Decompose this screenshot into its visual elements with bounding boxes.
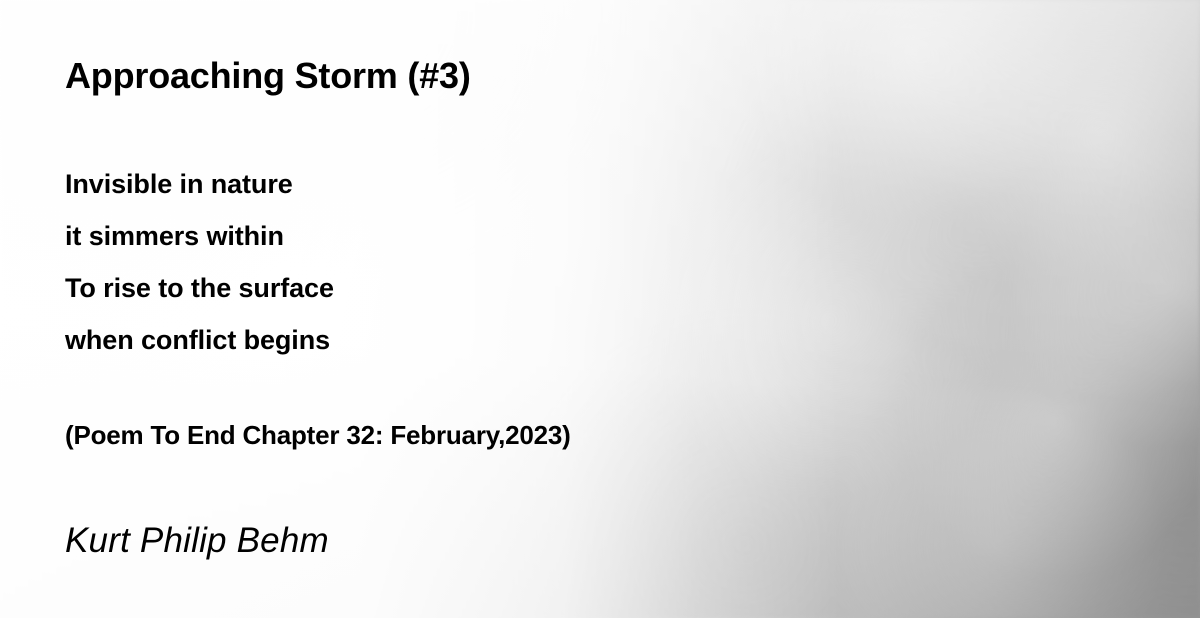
poem-line: it simmers within — [65, 210, 334, 262]
poem-line: To rise to the surface — [65, 262, 334, 314]
poem-content: Approaching Storm (#3) Invisible in natu… — [65, 0, 1125, 618]
poem-author: Kurt Philip Behm — [65, 519, 329, 563]
poem-image-card: Approaching Storm (#3) Invisible in natu… — [0, 0, 1200, 618]
poem-stanza: Invisible in nature it simmers within To… — [65, 158, 334, 366]
poem-line: when conflict begins — [65, 314, 334, 366]
page-title: Approaching Storm (#3) — [65, 55, 471, 97]
poem-chapter-note: (Poem To End Chapter 32: February,2023) — [65, 418, 571, 452]
poem-line: Invisible in nature — [65, 158, 334, 210]
